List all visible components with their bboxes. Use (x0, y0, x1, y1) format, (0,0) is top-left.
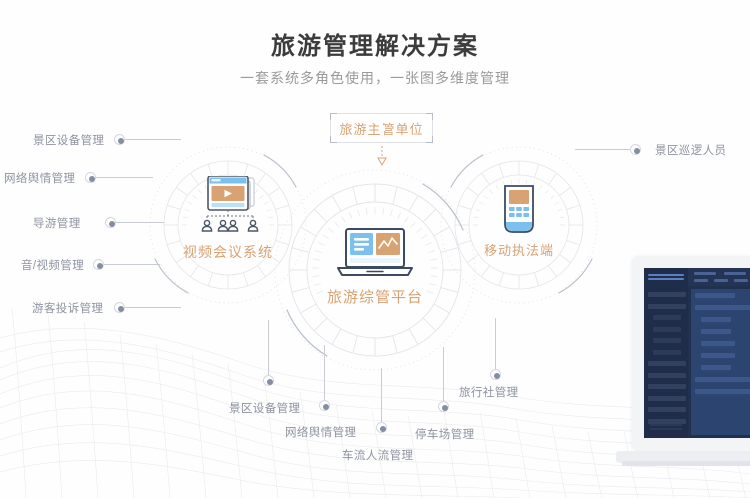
dashboard-nav-subitem[interactable] (653, 338, 681, 343)
dashboard-nav-item[interactable] (648, 304, 686, 309)
left-node-dot-1[interactable] (85, 172, 96, 183)
bottom-connector-0 (268, 320, 269, 375)
dashboard-nav-item[interactable] (648, 384, 686, 389)
dashboard-sidebar (644, 268, 688, 438)
page-title: 旅游管理解决方案 (0, 26, 750, 61)
dashboard-nav-subitem-active[interactable] (653, 327, 681, 332)
left-node-dot-2[interactable] (105, 217, 116, 228)
dashboard-nav-item[interactable] (648, 373, 686, 378)
dashboard-nav-item[interactable] (648, 419, 686, 424)
dashboard-tree-row[interactable] (695, 293, 735, 298)
left-node-dot-3[interactable] (93, 259, 104, 270)
bottom-node-dot-0[interactable] (263, 375, 274, 386)
bottom-connector-2 (381, 368, 382, 422)
left-node-dot-0[interactable] (114, 134, 125, 145)
bottom-node-label-4: 旅行社管理 (459, 384, 519, 400)
bottom-node-dot-3[interactable] (438, 401, 449, 412)
solution-diagram-page: 旅游管理解决方案 一套系统多角色使用，一张图多维度管理 旅游主管单位 (0, 0, 750, 498)
laptop-dashboard-icon (334, 228, 416, 280)
dashboard-nav-item[interactable] (648, 396, 686, 401)
dashboard-nav-subitem[interactable] (653, 350, 681, 355)
left-connector-1 (96, 177, 153, 178)
bottom-node-dot-2[interactable] (376, 422, 387, 433)
bottom-connector-4 (495, 318, 496, 369)
dashboard-nav-item[interactable] (648, 292, 686, 297)
hub-label-mobile-enforcement: 移动执法端 (419, 240, 619, 259)
page-subtitle: 一套系统多角色使用，一张图多维度管理 (0, 68, 750, 88)
video-window-icon (196, 176, 264, 234)
left-connector-3 (104, 264, 160, 265)
dashboard-nav-subitem[interactable] (653, 315, 681, 320)
right-connector-0 (575, 149, 630, 150)
dashboard-topbar (688, 268, 750, 286)
dashboard-tree-row[interactable] (701, 341, 735, 346)
left-node-label-4: 游客投诉管理 (32, 300, 103, 316)
dashboard-nav-item[interactable] (648, 407, 686, 412)
dashboard-tree-row[interactable] (701, 317, 731, 322)
laptop-lid (632, 256, 750, 451)
bottom-node-label-2: 车流人流管理 (342, 447, 413, 463)
hub-label-tourism-platform: 旅游综管平台 (275, 286, 475, 307)
bottom-node-dot-4[interactable] (490, 369, 501, 380)
dashboard-logo (648, 274, 684, 283)
bottom-node-label-0: 景区设备管理 (229, 400, 300, 416)
bottom-node-label-1: 网络舆情管理 (285, 424, 356, 440)
left-node-dot-4[interactable] (114, 302, 125, 313)
bottom-connector-1 (324, 345, 325, 400)
left-connector-4 (125, 307, 181, 308)
bottom-node-dot-1[interactable] (319, 400, 330, 411)
dashboard-tree-row[interactable] (701, 365, 731, 370)
dashboard-tree-row[interactable] (701, 353, 735, 358)
dashboard-nav (648, 292, 686, 430)
laptop-screen (644, 268, 750, 438)
dashboard-content (691, 289, 750, 435)
bottom-node-label-3: 停车场管理 (415, 426, 475, 442)
left-connector-0 (125, 139, 181, 140)
left-connector-2 (116, 222, 164, 223)
laptop-base-shadow (622, 461, 750, 466)
left-node-label-0: 景区设备管理 (33, 132, 104, 148)
bottom-connector-3 (443, 347, 444, 401)
dashboard-tree-panel (695, 293, 750, 401)
left-node-label-3: 音/视频管理 (21, 257, 84, 273)
left-node-label-1: 网络舆情管理 (4, 170, 75, 186)
dashboard-tree-row[interactable] (695, 377, 750, 382)
laptop-dashboard-mockup (616, 256, 750, 486)
dashboard-tree-row[interactable] (695, 305, 750, 310)
hub-label-video-conference: 视频会议系统 (128, 242, 328, 262)
dashboard-tree-row[interactable] (701, 329, 731, 334)
right-node-label-0: 景区巡逻人员 (655, 142, 726, 158)
dashboard-tree-row[interactable] (695, 389, 750, 394)
left-node-label-2: 导游管理 (33, 215, 81, 231)
handheld-device-icon (498, 184, 540, 238)
right-node-dot-0[interactable] (630, 144, 641, 155)
dashboard-nav-item[interactable] (648, 361, 686, 366)
dashboard-sidebar-footer (650, 424, 682, 430)
